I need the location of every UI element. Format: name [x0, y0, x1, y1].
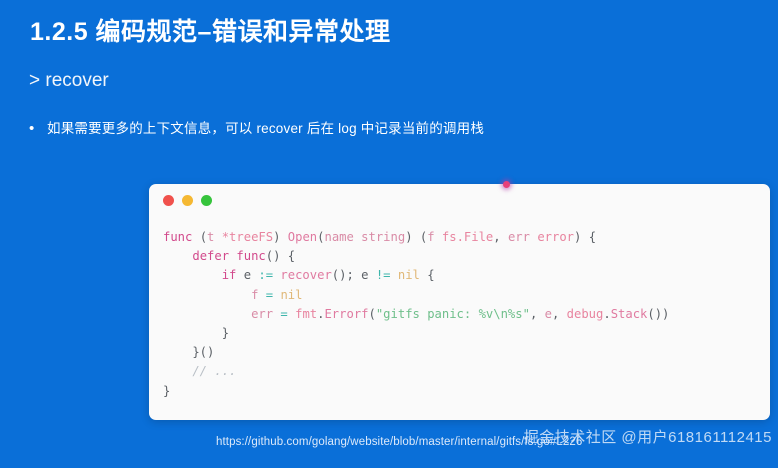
code-token: f [427, 230, 442, 244]
code-token: , [493, 230, 508, 244]
code-token: , [530, 307, 545, 321]
code-token [163, 288, 251, 302]
code-token: Errorf [324, 307, 368, 321]
code-line: f = nil [163, 286, 770, 305]
cursor-pointer-icon [503, 181, 510, 188]
window-minimize-icon[interactable] [182, 195, 193, 206]
code-token: func [236, 249, 265, 263]
code-token: , [552, 307, 567, 321]
code-line: } [163, 382, 770, 401]
code-token: = [266, 288, 281, 302]
code-line: // ... [163, 362, 770, 381]
code-window-card: func (t *treeFS) Open(name string) (f fs… [149, 184, 770, 420]
code-token: != [376, 268, 398, 282]
code-token [163, 268, 222, 282]
code-token: } [163, 326, 229, 340]
code-token: f [251, 288, 266, 302]
watermark-label: 掘金技术社区 @用户618161112415 [524, 426, 772, 447]
code-line: if e := recover(); e != nil { [163, 266, 770, 285]
code-token: e [244, 268, 259, 282]
slide-canvas: 1.2.5 编码规范–错误和异常处理 > recover • 如果需要更多的上下… [0, 0, 778, 468]
code-token: () { [266, 249, 295, 263]
code-token: Stack [611, 307, 648, 321]
code-token: ) ( [405, 230, 427, 244]
code-token: { [420, 268, 435, 282]
code-window-titlebar [149, 184, 770, 216]
code-token: } [163, 384, 170, 398]
code-token [163, 249, 192, 263]
code-line: defer func() { [163, 247, 770, 266]
code-token: if [222, 268, 244, 282]
code-token: (); [332, 268, 361, 282]
code-token: *treeFS [222, 230, 273, 244]
code-line: }() [163, 343, 770, 362]
code-token: e [545, 307, 552, 321]
section-subheading: > recover [29, 70, 109, 92]
page-title: 1.2.5 编码规范–错误和异常处理 [30, 12, 390, 48]
code-token: . [603, 307, 610, 321]
code-token: "gitfs panic: %v\n%s" [376, 307, 530, 321]
code-token: recover [280, 268, 331, 282]
code-token: err [508, 230, 537, 244]
code-line: } [163, 324, 770, 343]
code-line: err = fmt.Errorf("gitfs panic: %v\n%s", … [163, 305, 770, 324]
code-token: defer [192, 249, 236, 263]
code-token: fmt [295, 307, 317, 321]
code-token: nil [280, 288, 302, 302]
code-token: func [163, 230, 200, 244]
code-token: := [258, 268, 280, 282]
code-token: }() [163, 345, 214, 359]
code-token: fs.File [442, 230, 493, 244]
window-maximize-icon[interactable] [201, 195, 212, 206]
bullet-list-item: • 如果需要更多的上下文信息，可以 recover 后在 log 中记录当前的调… [29, 120, 484, 138]
code-token: nil [398, 268, 420, 282]
code-token: err [251, 307, 280, 321]
window-close-icon[interactable] [163, 195, 174, 206]
code-token: ) [273, 230, 288, 244]
code-block: func (t *treeFS) Open(name string) (f fs… [149, 216, 770, 401]
code-token: Open [288, 230, 317, 244]
code-line: func (t *treeFS) Open(name string) (f fs… [163, 228, 770, 247]
code-token: name string [324, 230, 405, 244]
code-token: t [207, 230, 222, 244]
bullet-marker-icon: • [29, 120, 47, 138]
code-token: ( [200, 230, 207, 244]
code-token: debug [567, 307, 604, 321]
code-token: e [361, 268, 376, 282]
code-token: ()) [647, 307, 669, 321]
code-token: error [537, 230, 574, 244]
code-token: ) { [574, 230, 596, 244]
code-token: ( [369, 307, 376, 321]
code-token: // ... [163, 364, 236, 378]
code-token: = [280, 307, 295, 321]
code-token [163, 307, 251, 321]
bullet-item-label: 如果需要更多的上下文信息，可以 recover 后在 log 中记录当前的调用栈 [47, 120, 484, 138]
